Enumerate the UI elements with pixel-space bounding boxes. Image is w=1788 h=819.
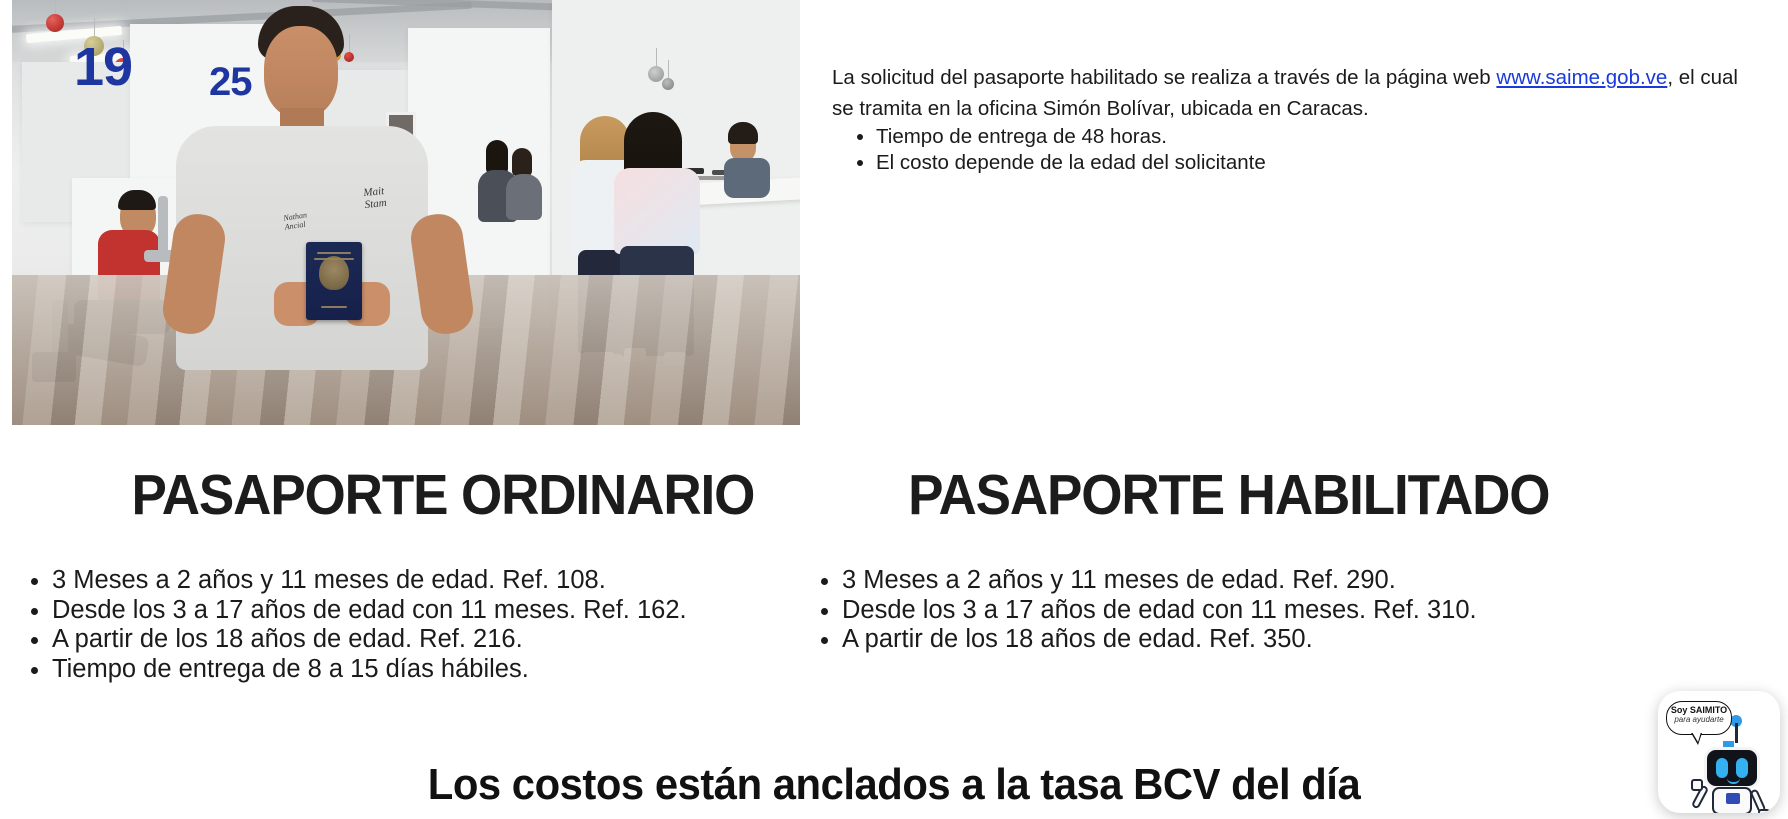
robot-eye-left [1716,758,1728,778]
robot-hand-left [1691,779,1703,791]
robot-body [1712,787,1752,813]
passport [306,242,362,320]
list-pasaporte-habilitado: 3 Meses a 2 años y 11 meses de edad. Ref… [808,566,1477,655]
office-photo: 19 25 [12,0,800,425]
intro-paragraph: La solicitud del pasaporte habilitado se… [832,62,1752,124]
robot-chest-panel [1726,793,1740,804]
list-pasaporte-ordinario: 3 Meses a 2 años y 11 meses de edad. Ref… [18,566,687,684]
top-section: 19 25 [0,0,1788,430]
robot-head [1704,747,1760,789]
list-item: A partir de los 18 años de edad. Ref. 35… [842,625,1477,655]
counter-number-19: 19 [74,36,132,98]
wall-decor [662,78,674,90]
list-item: Tiempo de entrega de 48 horas. [876,124,1752,150]
counter-number-25: 25 [209,60,252,105]
robot-hand-right [1758,809,1770,813]
heading-pasaporte-ordinario: PASAPORTE ORDINARIO [131,462,754,528]
chat-bubble-line-1: Soy SAIMITO [1667,705,1731,715]
wall-decor [648,66,664,82]
footer-heading: Los costos están anclados a la tasa BCV … [45,760,1744,810]
heading-pasaporte-habilitado: PASAPORTE HABILITADO [908,462,1549,528]
list-item: Desde los 3 a 17 años de edad con 11 mes… [842,596,1477,626]
intro-text-before-link: La solicitud del pasaporte habilitado se… [832,66,1496,89]
photo-canvas: 19 25 [12,0,800,425]
saime-website-link[interactable]: www.saime.gob.ve [1496,66,1667,89]
ornament [344,52,354,62]
list-item: A partir de los 18 años de edad. Ref. 21… [52,625,687,655]
chat-speech-bubble: Soy SAIMITO para ayudarte [1666,701,1732,735]
robot-eye-right [1736,758,1748,778]
saimito-chat-widget[interactable]: Soy SAIMITO para ayudarte [1658,691,1780,813]
list-item: Tiempo de entrega de 8 a 15 días hábiles… [52,655,687,685]
intro-block: La solicitud del pasaporte habilitado se… [832,62,1752,176]
waiting-chair [158,196,168,262]
list-item: 3 Meses a 2 años y 11 meses de edad. Ref… [52,566,687,596]
intro-bullet-list: Tiempo de entrega de 48 horas. El costo … [832,124,1752,176]
chat-bubble-line-2: para ayudarte [1667,715,1731,725]
list-item: Desde los 3 a 17 años de edad con 11 mes… [52,596,687,626]
ornament [46,14,64,32]
robot-smile [1727,778,1740,784]
antenna-stem [1735,723,1738,743]
list-item: 3 Meses a 2 años y 11 meses de edad. Ref… [842,566,1477,596]
list-item: El costo depende de la edad del solicita… [876,150,1752,176]
